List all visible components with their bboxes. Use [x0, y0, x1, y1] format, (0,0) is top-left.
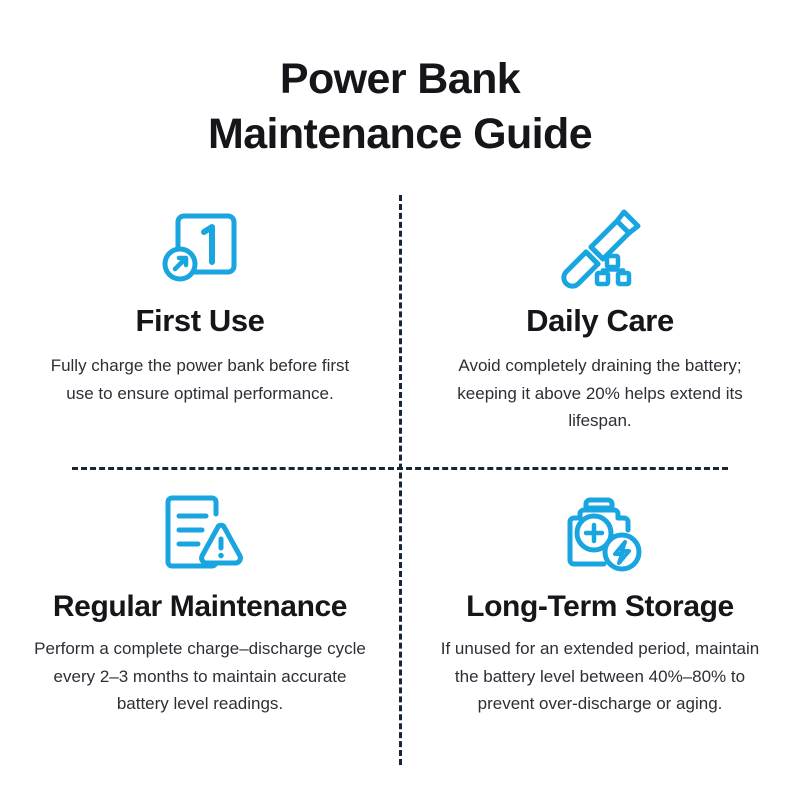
infographic-root: Power Bank Maintenance Guide First Use F… — [0, 0, 800, 800]
panel-body: Perform a complete charge–discharge cycl… — [30, 635, 370, 718]
page-title-line-1: Power Bank — [0, 52, 800, 107]
panel-heading: First Use — [135, 304, 264, 338]
panel-grid: First Use Fully charge the power bank be… — [0, 190, 800, 770]
numbered-square-arrow-icon — [154, 198, 246, 294]
panel-body: Fully charge the power bank before first… — [35, 352, 365, 407]
screwdriver-network-icon — [554, 198, 646, 294]
panel-heading: Long-Term Storage — [466, 590, 734, 623]
panel-body: If unused for an extended period, mainta… — [435, 635, 765, 718]
panel-regular-maintenance: Regular Maintenance Perform a complete c… — [0, 468, 400, 770]
panel-heading: Regular Maintenance — [53, 590, 347, 623]
panel-first-use: First Use Fully charge the power bank be… — [0, 190, 400, 468]
panel-heading: Daily Care — [526, 304, 674, 338]
panel-daily-care: Daily Care Avoid completely draining the… — [400, 190, 800, 468]
page-title: Power Bank Maintenance Guide — [0, 52, 800, 162]
panel-body: Avoid completely draining the battery; k… — [440, 352, 760, 435]
panel-long-term-storage: Long-Term Storage If unused for an exten… — [400, 468, 800, 770]
battery-plus-bolt-icon — [554, 484, 646, 580]
page-title-line-2: Maintenance Guide — [0, 107, 800, 162]
document-warning-icon — [154, 484, 246, 580]
